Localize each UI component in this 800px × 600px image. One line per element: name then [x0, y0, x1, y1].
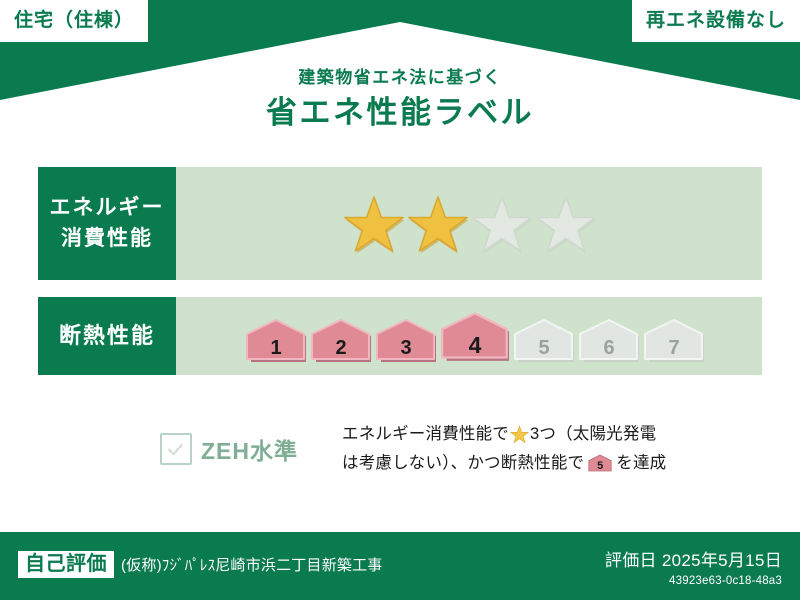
insulation-grade-value: 2 — [311, 338, 371, 358]
zeh-desc-text-a: エネルギー消費性能で — [342, 420, 509, 449]
energy-label-line2: 消費性能 — [61, 224, 153, 254]
insulation-performance-row: 断熱性能 1234567 — [38, 297, 762, 375]
star-icon-filled — [343, 194, 405, 254]
insulation-grade-1: 1 — [246, 318, 306, 362]
energy-performance-body — [176, 167, 762, 280]
evaluation-id: 43923e63-0c18-48a3 — [605, 575, 782, 587]
energy-performance-label: エネルギー 消費性能 — [38, 167, 176, 280]
energy-label-line1: エネルギー — [50, 193, 165, 223]
insulation-grade-5: 5 — [514, 318, 574, 362]
star-icon — [510, 425, 529, 444]
insulation-label-text: 断熱性能 — [59, 322, 155, 351]
zeh-description-line1: エネルギー消費性能で 3つ（太陽光発電 — [342, 420, 666, 449]
inline-grade-badge: 5 — [588, 454, 612, 472]
renewable-energy-tag: 再エネ設備なし — [632, 0, 800, 42]
star-icon-filled — [407, 194, 469, 254]
insulation-grade-4: 4 — [441, 310, 509, 362]
insulation-grade-value: 5 — [514, 338, 574, 358]
insulation-grade-3: 3 — [376, 318, 436, 362]
zeh-desc-text-b: 3つ（太陽光発電 — [530, 420, 656, 449]
project-name: (仮称)ﾌｼﾞﾊﾟﾚｽ尼崎市浜二丁目新築工事 — [121, 554, 383, 575]
inline-grade-value: 5 — [588, 461, 612, 472]
checkbox-check-icon — [160, 433, 192, 465]
zeh-badge: ZEH水準 — [160, 432, 298, 466]
insulation-grade-value: 1 — [246, 338, 306, 358]
zeh-label: ZEH水準 — [201, 432, 298, 466]
zeh-description-line2: は考慮しない）、かつ断熱性能で 5 を達成 — [342, 449, 666, 478]
zeh-desc-text-d: を達成 — [616, 449, 666, 478]
insulation-performance-label: 断熱性能 — [38, 297, 176, 375]
building-type-tag: 住宅（住棟） — [0, 0, 148, 42]
insulation-grade-value: 6 — [579, 338, 639, 358]
energy-performance-row: エネルギー 消費性能 — [38, 167, 762, 280]
insulation-grade-6: 6 — [579, 318, 639, 362]
insulation-performance-body: 1234567 — [176, 297, 762, 375]
insulation-grade-value: 3 — [376, 338, 436, 358]
footer-left: 自己評価 (仮称)ﾌｼﾞﾊﾟﾚｽ尼崎市浜二丁目新築工事 — [18, 551, 383, 578]
insulation-grade-7: 7 — [644, 318, 704, 362]
insulation-grade-value: 4 — [441, 334, 509, 357]
footer-bar: 自己評価 (仮称)ﾌｼﾞﾊﾟﾚｽ尼崎市浜二丁目新築工事 評価日 2025年5月1… — [0, 532, 800, 600]
evaluation-date: 評価日 2025年5月15日 — [605, 546, 782, 571]
footer-right: 評価日 2025年5月15日 43923e63-0c18-48a3 — [605, 546, 782, 587]
star-rating — [343, 194, 597, 254]
star-icon-empty — [471, 194, 533, 254]
insulation-grade-value: 7 — [644, 338, 704, 358]
self-evaluation-badge: 自己評価 — [18, 551, 114, 578]
energy-performance-label: 住宅（住棟） 再エネ設備なし 建築物省エネ法に基づく 省エネ性能ラベル エネルギ… — [0, 0, 800, 600]
insulation-grade-2: 2 — [311, 318, 371, 362]
title-block: 建築物省エネ法に基づく 省エネ性能ラベル — [0, 68, 800, 132]
star-icon-empty — [535, 194, 597, 254]
title-subtitle: 建築物省エネ法に基づく — [0, 68, 800, 88]
page-title: 省エネ性能ラベル — [0, 94, 800, 131]
zeh-section: ZEH水準 エネルギー消費性能で 3つ（太陽光発電 は考慮しない）、かつ断熱性能… — [38, 420, 762, 478]
zeh-desc-text-c: は考慮しない）、かつ断熱性能で — [342, 449, 584, 478]
insulation-grade-scale: 1234567 — [246, 310, 704, 362]
zeh-description: エネルギー消費性能で 3つ（太陽光発電 は考慮しない）、かつ断熱性能で 5 を達… — [342, 420, 666, 478]
